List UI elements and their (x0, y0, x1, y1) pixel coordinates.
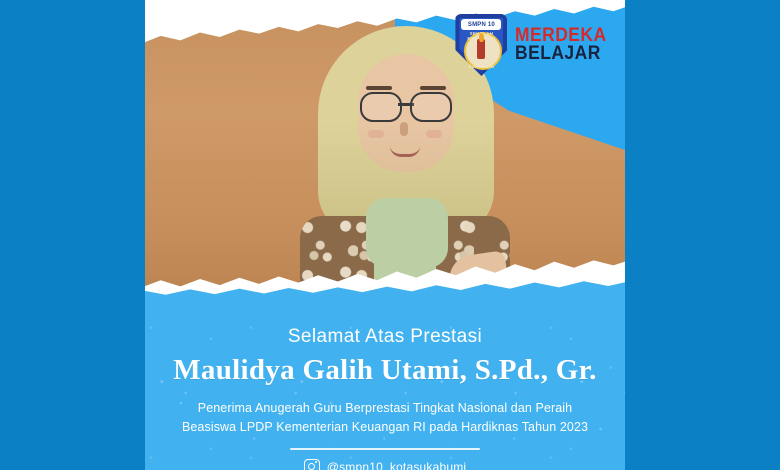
neck-scarf (366, 198, 448, 268)
flame-icon (479, 33, 484, 42)
shield-name-band: SMPN 10 (461, 19, 501, 30)
school-shield-logo: SEKOLAH MENENGAH PERTAMA KOTA SUKABUMI S… (455, 14, 507, 76)
poster-card: SEKOLAH MENENGAH PERTAMA KOTA SUKABUMI S… (145, 0, 625, 470)
footer-divider (290, 448, 480, 450)
poster-root: SEKOLAH MENENGAH PERTAMA KOTA SUKABUMI S… (0, 0, 780, 470)
logo-row: SEKOLAH MENENGAH PERTAMA KOTA SUKABUMI S… (455, 14, 615, 76)
glasses-icon (360, 92, 452, 118)
torch-icon (477, 39, 485, 59)
description-line-2: Beasiswa LPDP Kementerian Keuangan RI pa… (170, 418, 600, 437)
merdeka-belajar-wordmark: MERDEKA BELAJAR (515, 27, 615, 63)
instagram-handle-row[interactable]: @smpn10_kotasukabumi (145, 459, 625, 470)
text-block: Selamat Atas Prestasi Maulidya Galih Uta… (145, 326, 625, 470)
glasses-lens-right (410, 92, 452, 122)
shield-name-text: SMPN 10 (468, 22, 495, 28)
instagram-icon (304, 459, 320, 470)
shield-arc-bottom: KOTA SUKABUMI (461, 59, 501, 69)
belajar-text: BELAJAR (515, 45, 607, 63)
description-line-1: Penerima Anugerah Guru Berprestasi Tingk… (170, 399, 600, 418)
honoree-name: Maulidya Galih Utami, S.Pd., Gr. (145, 354, 625, 387)
congrats-line: Selamat Atas Prestasi (145, 326, 625, 348)
glasses-lens-left (360, 92, 402, 122)
eyebrow-right (420, 86, 446, 90)
instagram-handle[interactable]: @smpn10_kotasukabumi (327, 460, 467, 470)
eyebrow-left (366, 86, 392, 90)
